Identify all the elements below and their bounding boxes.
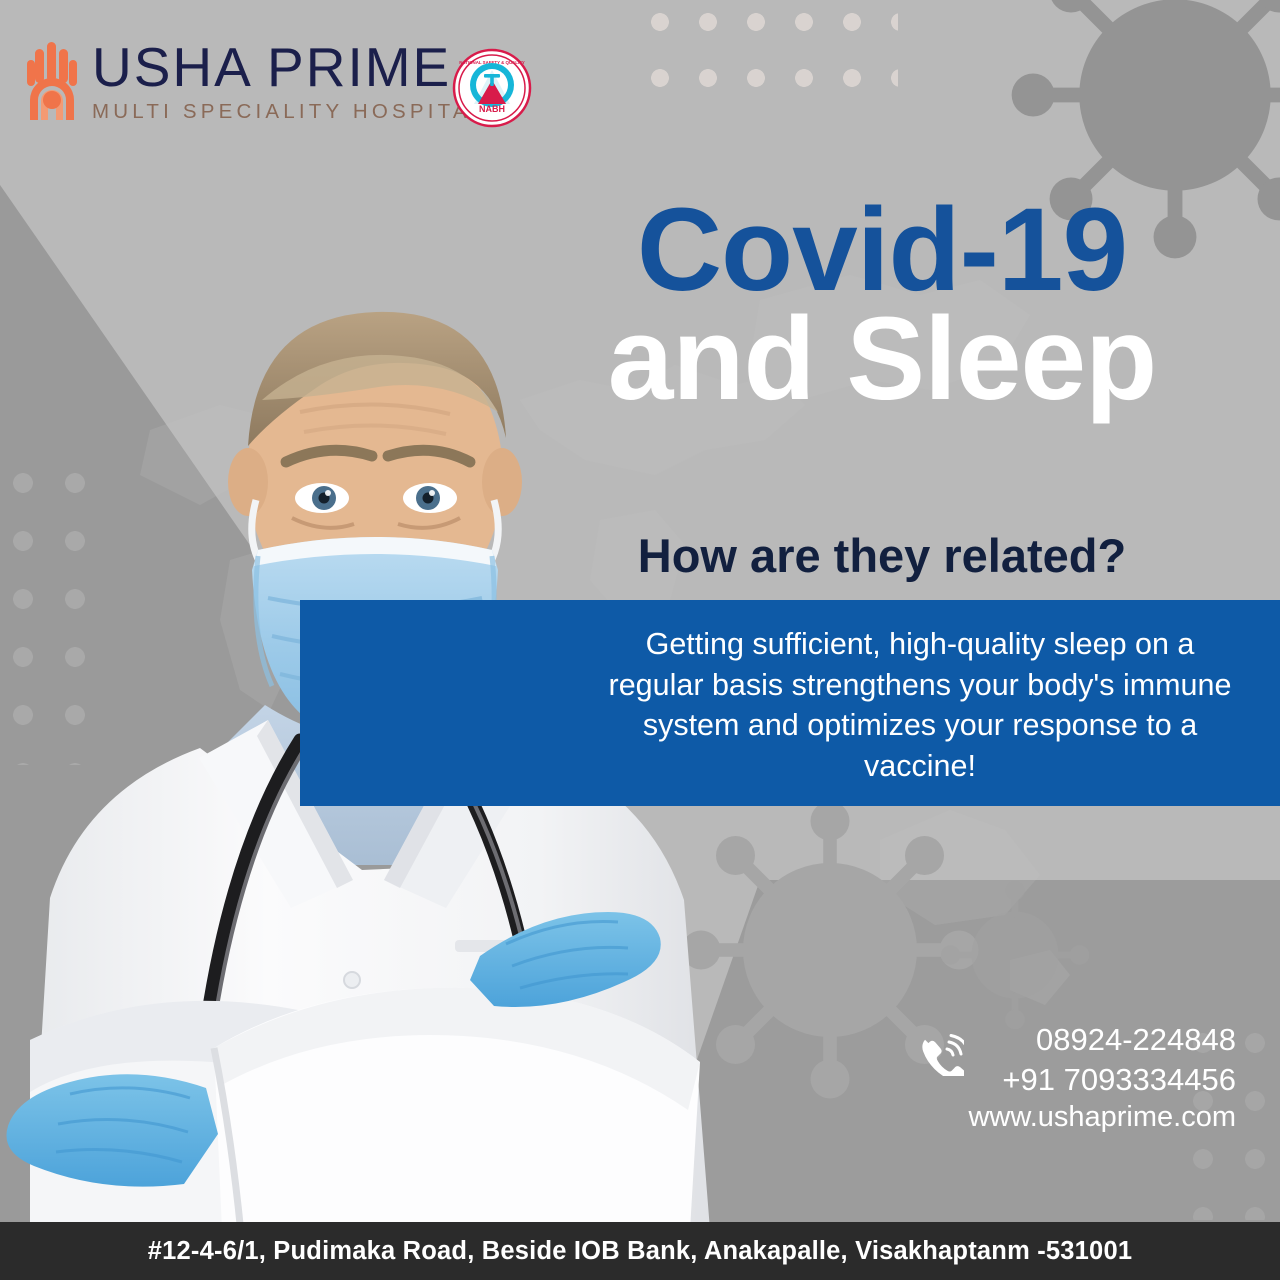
page-title: Covid-19 and Sleep <box>520 196 1244 413</box>
subheading: How are they related? <box>520 528 1244 583</box>
brand-tagline: MULTI SPECIALITY HOSPITAL <box>92 102 486 123</box>
phone-primary[interactable]: 08924-224848 <box>916 1020 1236 1060</box>
nabh-accreditation-icon: NATIONAL SAFETY & QUALITY NABH <box>452 48 532 128</box>
contact-block: 08924-224848 +91 7093334456 www.ushaprim… <box>916 1020 1236 1136</box>
website-link[interactable]: www.ushaprime.com <box>916 1099 1236 1136</box>
brand-name: USHA PRIME <box>92 40 486 95</box>
dot-grid-pattern-top <box>648 10 898 122</box>
address-bar: #12-4-6/1, Pudimaka Road, Beside IOB Ban… <box>0 1222 1280 1280</box>
headline-line-1: Covid-19 <box>520 196 1244 305</box>
poster-canvas: USHA PRIME MULTI SPECIALITY HOSPITAL NAT… <box>0 0 1280 1280</box>
brand-wordmark: USHA PRIME MULTI SPECIALITY HOSPITAL <box>92 40 486 123</box>
hand-logo-icon <box>26 40 78 122</box>
phone-secondary[interactable]: +91 7093334456 <box>916 1060 1236 1100</box>
message-body: Getting sufficient, high-quality sleep o… <box>600 624 1240 786</box>
coronavirus-silhouette-icon-small <box>940 880 1090 1030</box>
address-text: #12-4-6/1, Pudimaka Road, Beside IOB Ban… <box>148 1237 1132 1266</box>
headline-line-2: and Sleep <box>520 305 1244 414</box>
brand-logo[interactable]: USHA PRIME MULTI SPECIALITY HOSPITAL <box>26 40 486 123</box>
svg-text:NABH: NABH <box>479 104 505 114</box>
